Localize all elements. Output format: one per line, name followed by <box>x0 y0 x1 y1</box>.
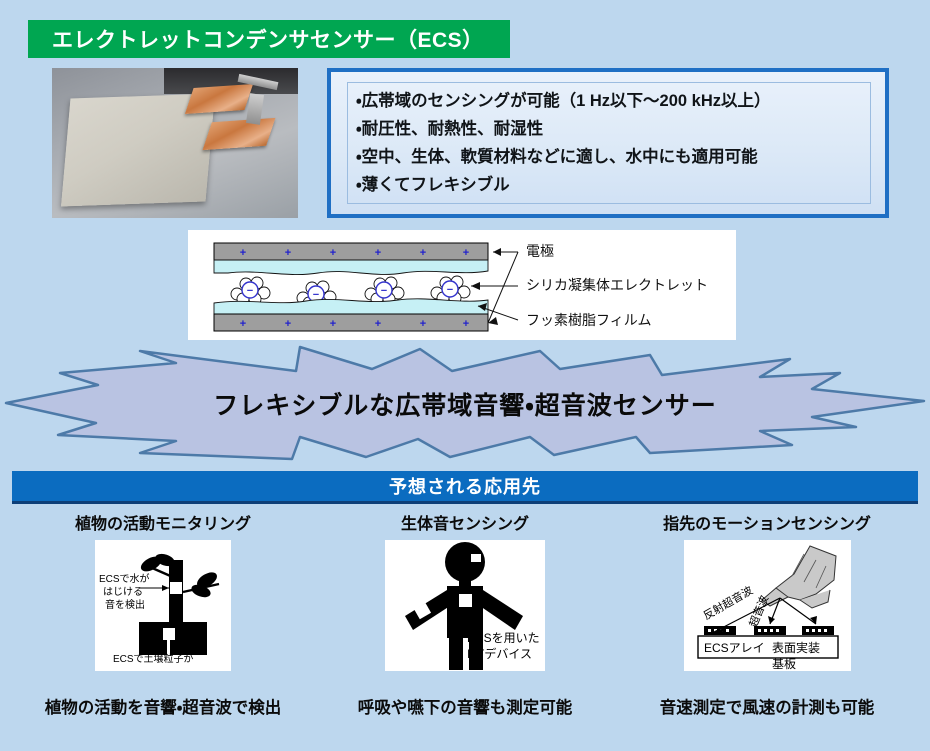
plant-img-label-3: 音を検出 <box>105 598 145 611</box>
application-item-fingertip: 指先のモーションセンシング <box>616 510 918 685</box>
svg-text:+: + <box>285 318 291 330</box>
biosound-img-label-1: ECSを用いた <box>467 631 540 645</box>
features-inner-frame: ・広帯域のセンシングが可能（1 Hz以下～200 kHz以上） ・耐圧性、耐熱性… <box>347 82 871 204</box>
electrode-plus-3: + <box>330 247 336 259</box>
plant-img-label-2: はじける <box>103 586 143 598</box>
feature-bullet-3: ・空中、生体、軟質材料などに適し、水中にも適用可能 <box>356 148 862 167</box>
applications-section-title: 予想される応用先 <box>389 473 541 499</box>
application-image-fingertip: 反射超音波 超音波 ECSアレイ 表面実装 基板 <box>684 540 851 671</box>
ecs-sensor-photo <box>52 68 298 218</box>
svg-text:+: + <box>330 318 336 330</box>
application-image-biosound: ECSを用いた IoTデバイス <box>385 540 545 671</box>
fingertip-img-label-board1: 表面実装 <box>772 641 820 655</box>
svg-text:−: − <box>381 285 387 297</box>
slide-root: エレクトレットコンデンサセンサー（ECS） ・広帯域のセンシングが可能（1 Hz… <box>0 0 930 751</box>
application-captions-row: 植物の活動を音響・超音波で検出 呼吸や嚥下の音響も測定可能 音速測定で風速の計測… <box>12 694 918 718</box>
application-image-plant: ECSで水が はじける 音を検出 ECSで土壌粒子が <box>95 540 231 671</box>
applications-section-header: 予想される応用先 <box>12 471 918 504</box>
page-title-chip: エレクトレットコンデンサセンサー（ECS） <box>28 20 510 58</box>
photo-copper-tab-lower <box>203 118 276 150</box>
application-title-fingertip: 指先のモーションセンシング <box>663 510 871 534</box>
svg-text:−: − <box>313 289 319 301</box>
diagram-label-electrode: 電極 <box>526 243 554 259</box>
feature-bullet-1: ・広帯域のセンシングが可能（1 Hz以下～200 kHz以上） <box>356 92 862 111</box>
electrode-plus-1: + <box>240 247 246 259</box>
svg-text:+: + <box>375 318 381 330</box>
electrode-plus-2: + <box>285 247 291 259</box>
starburst-banner: フレキシブルな広帯域音響・超音波センサー <box>0 345 930 463</box>
application-item-plant: 植物の活動モニタリング <box>12 510 314 685</box>
svg-text:+: + <box>420 318 426 330</box>
application-caption-biosound: 呼吸や嚥下の音響も測定可能 <box>314 694 616 718</box>
svg-text:−: − <box>247 285 253 297</box>
application-item-biosound: 生体音センシング <box>314 510 616 685</box>
feature-bullet-4: ・薄くてフレキシブル <box>356 176 862 195</box>
svg-text:+: + <box>463 318 469 330</box>
fingertip-img-label-array: ECSアレイ <box>704 641 765 655</box>
diagram-label-film: フッ素樹脂フィルム <box>526 312 651 328</box>
electrode-plus-6: + <box>463 247 469 259</box>
svg-text:−: − <box>447 284 453 296</box>
electrode-plus-5: + <box>420 247 426 259</box>
diagram-label-electret: シリカ凝集体エレクトレット <box>526 277 708 293</box>
feature-bullet-2: ・耐圧性、耐熱性、耐湿性 <box>356 120 862 139</box>
svg-text:+: + <box>240 318 246 330</box>
application-caption-fingertip: 音速測定で風速の計測も可能 <box>616 694 918 718</box>
application-title-plant: 植物の活動モニタリング <box>75 510 251 534</box>
application-caption-plant: 植物の活動を音響・超音波で検出 <box>12 694 314 718</box>
features-box: ・広帯域のセンシングが可能（1 Hz以下～200 kHz以上） ・耐圧性、耐熱性… <box>327 68 889 218</box>
applications-row: 植物の活動モニタリング <box>12 510 918 685</box>
photo-copper-tab-upper <box>185 84 253 114</box>
plant-img-label-1: ECSで水が <box>99 572 150 585</box>
electrode-plus-4: + <box>375 247 381 259</box>
application-title-biosound: 生体音センシング <box>401 510 529 534</box>
fingertip-img-label-board2: 基板 <box>772 657 796 671</box>
biosound-img-label-2: IoTデバイス <box>467 646 532 661</box>
cross-section-diagram: + + + + + + − <box>188 230 736 340</box>
plant-img-label-4: ECSで土壌粒子が <box>113 652 194 665</box>
page-title: エレクトレットコンデンサセンサー（ECS） <box>52 24 484 54</box>
